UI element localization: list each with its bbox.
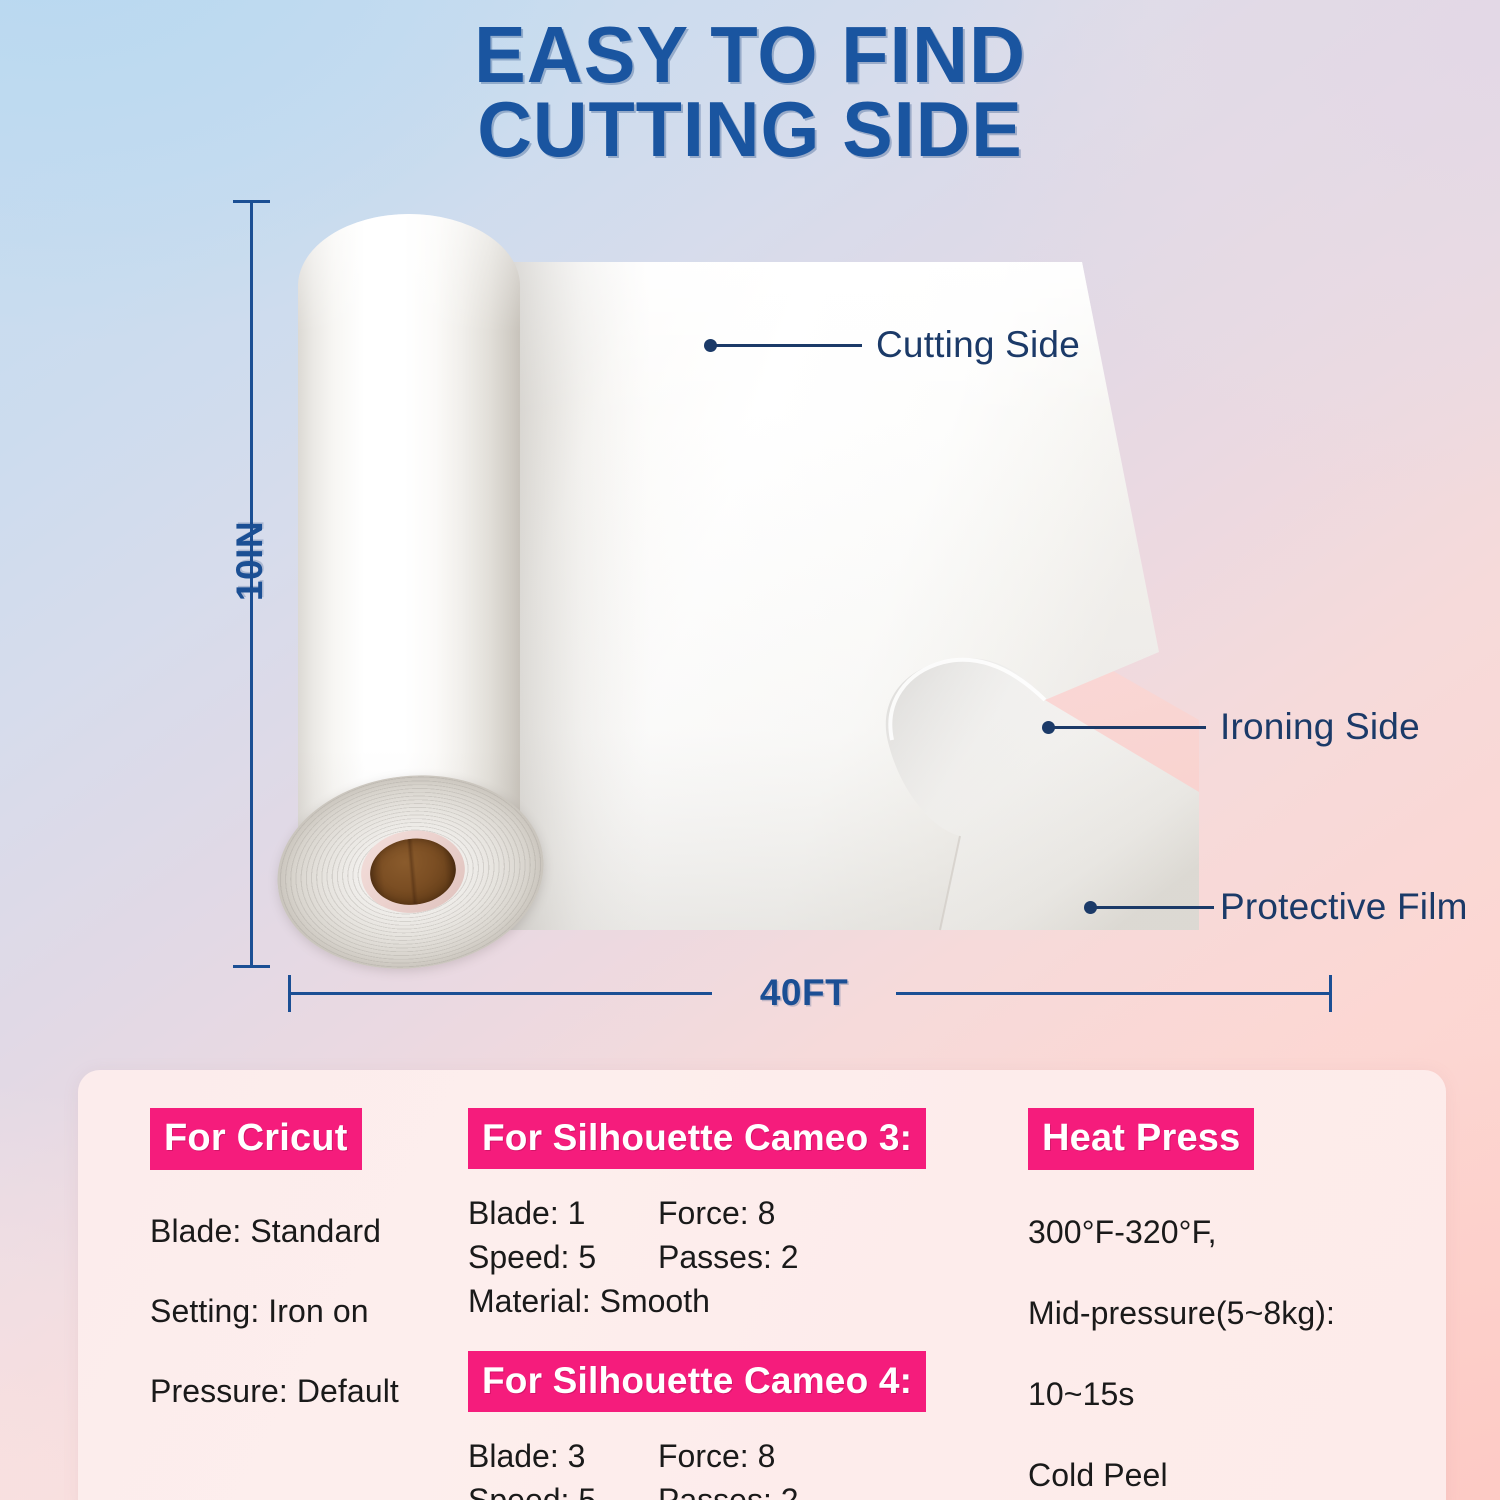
cameo4-row-blade-force: Blade: 3 Force: 8 bbox=[468, 1434, 1028, 1478]
cameo3-material: Material: Smooth bbox=[468, 1279, 1028, 1323]
badge-heat-press: Heat Press bbox=[1028, 1108, 1254, 1170]
cameo3-speed: Speed: 5 bbox=[468, 1235, 658, 1279]
callout-cutting-side: Cutting Side bbox=[704, 324, 1080, 366]
callout-leader-line bbox=[1054, 726, 1206, 729]
settings-panel: For Cricut Blade: Standard Setting: Iron… bbox=[78, 1070, 1446, 1500]
dimension-width-line-right bbox=[896, 992, 1332, 995]
dimension-width-label: 40FT bbox=[712, 970, 896, 1016]
headline-line-2: CUTTING SIDE bbox=[23, 92, 1478, 166]
heat-press-duration: 10~15s bbox=[1028, 1376, 1446, 1413]
settings-column-cricut: For Cricut Blade: Standard Setting: Iron… bbox=[78, 1108, 408, 1500]
dimension-height-label: 10IN bbox=[229, 498, 271, 624]
headline-line-1: EASY TO FIND bbox=[23, 18, 1478, 92]
cameo4-row-speed-passes: Speed: 5 Passes: 2 bbox=[468, 1478, 1028, 1500]
heat-press-pressure: Mid-pressure(5~8kg): bbox=[1028, 1295, 1446, 1332]
heat-press-peel: Cold Peel bbox=[1028, 1457, 1446, 1494]
badge-for-cricut: For Cricut bbox=[150, 1108, 362, 1170]
cameo4-blade: Blade: 3 bbox=[468, 1434, 658, 1478]
dimension-height-cap-top bbox=[233, 200, 270, 203]
cricut-blade-line: Blade: Standard bbox=[150, 1213, 408, 1250]
dimension-height-cap-bottom bbox=[233, 965, 270, 968]
cameo3-row-speed-passes: Speed: 5 Passes: 2 bbox=[468, 1235, 1028, 1279]
cameo3-row-blade-force: Blade: 1 Force: 8 bbox=[468, 1191, 1028, 1235]
cameo4-specs: Blade: 3 Force: 8 Speed: 5 Passes: 2 Mat… bbox=[468, 1434, 1028, 1500]
heat-press-temperature: 300°F-320°F, bbox=[1028, 1214, 1446, 1251]
cameo4-force: Force: 8 bbox=[658, 1434, 775, 1478]
callout-label-protective-film: Protective Film bbox=[1220, 886, 1468, 928]
dimension-width: 40FT bbox=[288, 970, 1332, 1016]
callout-leader-line bbox=[1096, 906, 1214, 909]
cameo4-passes: Passes: 2 bbox=[658, 1478, 799, 1500]
cricut-pressure-line: Pressure: Default bbox=[150, 1373, 408, 1410]
callout-label-cutting-side: Cutting Side bbox=[876, 324, 1080, 366]
cricut-setting-line: Setting: Iron on bbox=[150, 1293, 408, 1330]
dimension-width-cap-left bbox=[288, 975, 291, 1012]
callout-ironing-side: Ironing Side bbox=[1042, 706, 1420, 748]
cameo3-force: Force: 8 bbox=[658, 1191, 775, 1235]
dimension-height: 10IN bbox=[228, 200, 274, 968]
settings-column-cameo: For Silhouette Cameo 3: Blade: 1 Force: … bbox=[408, 1108, 1028, 1500]
cameo3-specs: Blade: 1 Force: 8 Speed: 5 Passes: 2 Mat… bbox=[468, 1191, 1028, 1323]
callout-protective-film: Protective Film bbox=[1084, 886, 1468, 928]
dimension-width-line-left bbox=[288, 992, 712, 995]
badge-for-silhouette-cameo-3: For Silhouette Cameo 3: bbox=[468, 1108, 926, 1169]
callout-leader-line bbox=[716, 344, 862, 347]
badge-for-silhouette-cameo-4: For Silhouette Cameo 4: bbox=[468, 1351, 926, 1412]
callout-label-ironing-side: Ironing Side bbox=[1220, 706, 1420, 748]
dimension-width-cap-right bbox=[1329, 975, 1332, 1012]
cameo4-speed: Speed: 5 bbox=[468, 1478, 658, 1500]
cameo3-passes: Passes: 2 bbox=[658, 1235, 799, 1279]
cameo3-blade: Blade: 1 bbox=[468, 1191, 658, 1235]
headline: EASY TO FIND CUTTING SIDE bbox=[0, 18, 1500, 166]
settings-column-heat-press: Heat Press 300°F-320°F, Mid-pressure(5~8… bbox=[1028, 1108, 1446, 1500]
